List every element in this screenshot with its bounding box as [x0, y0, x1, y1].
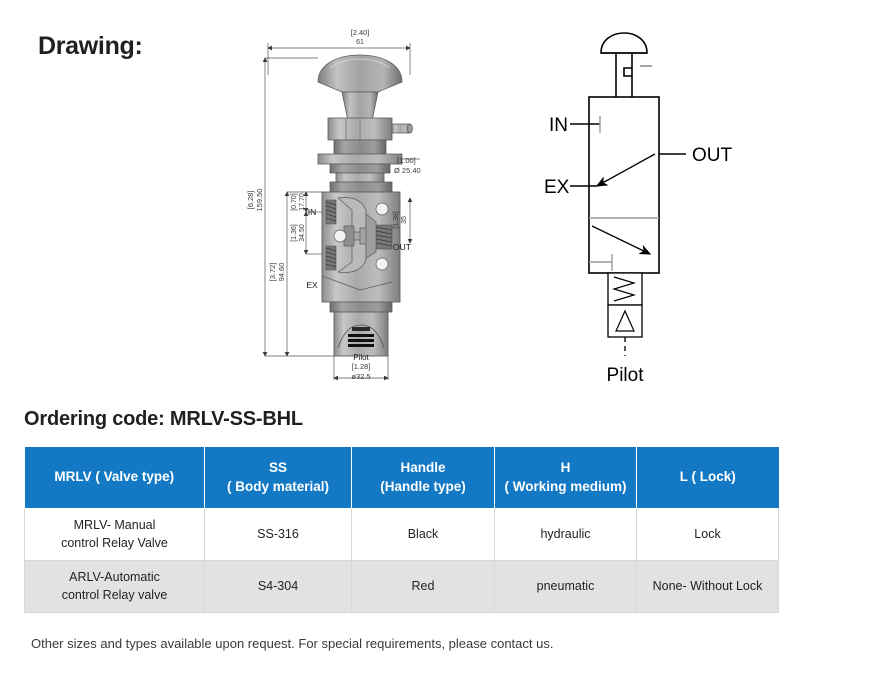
header-line-1: Handle: [400, 460, 445, 475]
body-top-cap: [330, 182, 392, 192]
cell-handle-type: Red: [352, 560, 495, 612]
drawing-label-in: IN: [308, 207, 317, 217]
flange-under: [330, 164, 390, 173]
dim-flange-mm: Ø 25.40: [394, 166, 421, 175]
column-header-valve-type: MRLV ( Valve type): [25, 447, 205, 508]
dim-port-mid-mm: 34.50: [299, 224, 306, 242]
valve-section-drawing: [2.40] 61 [1.00] Ø 25.40: [246, 28, 421, 381]
cell-working-medium: pneumatic: [495, 560, 637, 612]
footer-note: Other sizes and types available upon req…: [31, 636, 553, 651]
schematic-label-pilot: Pilot: [607, 365, 645, 386]
cell-body-material: SS-316: [205, 508, 352, 560]
header-line-2: ( Body material): [227, 479, 329, 494]
dim-port-right-mm: 35: [401, 216, 408, 224]
ordering-code-table: MRLV ( Valve type) SS ( Body material) H…: [24, 447, 779, 613]
header-line-1: H: [561, 460, 571, 475]
cell-line-1: MRLV- Manual: [74, 518, 156, 532]
column-header-handle-type: Handle (Handle type): [352, 447, 495, 508]
dim-port-top-inch: [0.70]: [291, 193, 298, 211]
schematic-label-ex: EX: [544, 177, 570, 198]
header-line-1: SS: [269, 460, 287, 475]
ordering-code-heading: Ordering code: MRLV-SS-BHL: [24, 408, 303, 431]
dim-port-mid-inch: [1.36]: [291, 224, 298, 242]
dim-width-inch: [2.40]: [351, 28, 370, 37]
dim-port-top-mm: 17.70: [299, 193, 306, 211]
schematic-label-out: OUT: [692, 145, 733, 166]
schematic-detent: [624, 68, 632, 76]
schematic-handle-cap: [601, 33, 647, 53]
stem-collar: [334, 140, 386, 154]
dim-pilot-mm: ø32.5: [351, 372, 370, 381]
header-line-1: MRLV ( Valve type): [54, 469, 174, 484]
mounting-flange: [318, 154, 402, 164]
cell-line-2: control Relay valve: [62, 588, 168, 602]
header-line-2: ( Working medium): [504, 479, 626, 494]
flange-base: [336, 173, 384, 182]
port-hole-right-lower: [376, 258, 388, 270]
drawing-area: [2.40] 61 [1.00] Ø 25.40: [0, 0, 874, 400]
column-header-lock: L ( Lock): [637, 447, 779, 508]
cell-lock: Lock: [637, 508, 779, 560]
column-header-body-material: SS ( Body material): [205, 447, 352, 508]
cell-valve-type: ARLV-Automatic control Relay valve: [25, 560, 205, 612]
dim-overall-height-inch: [6.28]: [246, 191, 255, 210]
cell-valve-type: MRLV- Manual control Relay Valve: [25, 508, 205, 560]
schematic-label-in: IN: [549, 115, 568, 136]
dim-body-height-mm: 94.60: [277, 263, 286, 282]
knob-cap: [318, 55, 402, 92]
header-line-2: (Handle type): [380, 479, 466, 494]
dim-flange-inch: [1.00]: [397, 156, 416, 165]
dim-width-mm: 61: [356, 39, 364, 46]
column-header-working-medium: H ( Working medium): [495, 447, 637, 508]
cell-line-2: control Relay Valve: [61, 536, 168, 550]
drawing-label-out: OUT: [393, 242, 411, 252]
valve-schematic-symbol: [570, 33, 686, 356]
port-hole-right-upper: [376, 203, 388, 215]
table-row: MRLV- Manual control Relay Valve SS-316 …: [25, 508, 779, 560]
body-bottom-cap: [330, 302, 392, 312]
table-row: ARLV-Automatic control Relay valve S4-30…: [25, 560, 779, 612]
cell-working-medium: hydraulic: [495, 508, 637, 560]
cell-handle-type: Black: [352, 508, 495, 560]
cell-body-material: S4-304: [205, 560, 352, 612]
cell-line-1: ARLV-Automatic: [69, 570, 160, 584]
dimension-body-height: [287, 192, 322, 356]
dim-port-right-inch: [1.38]: [393, 211, 400, 229]
table-header-row: MRLV ( Valve type) SS ( Body material) H…: [25, 447, 779, 508]
header-line-1: L ( Lock): [680, 469, 736, 484]
cell-lock: None- Without Lock: [637, 560, 779, 612]
port-hole-left: [334, 230, 346, 242]
drawing-label-ex: EX: [306, 280, 318, 290]
dimension-port-mid: [306, 212, 322, 254]
dim-overall-height-mm: 159.50: [255, 189, 264, 212]
dim-body-height-inch: [3.72]: [268, 263, 277, 282]
dim-pilot-inch: [1.28]: [352, 362, 371, 371]
drawing-label-pilot: Pilot: [353, 353, 369, 362]
